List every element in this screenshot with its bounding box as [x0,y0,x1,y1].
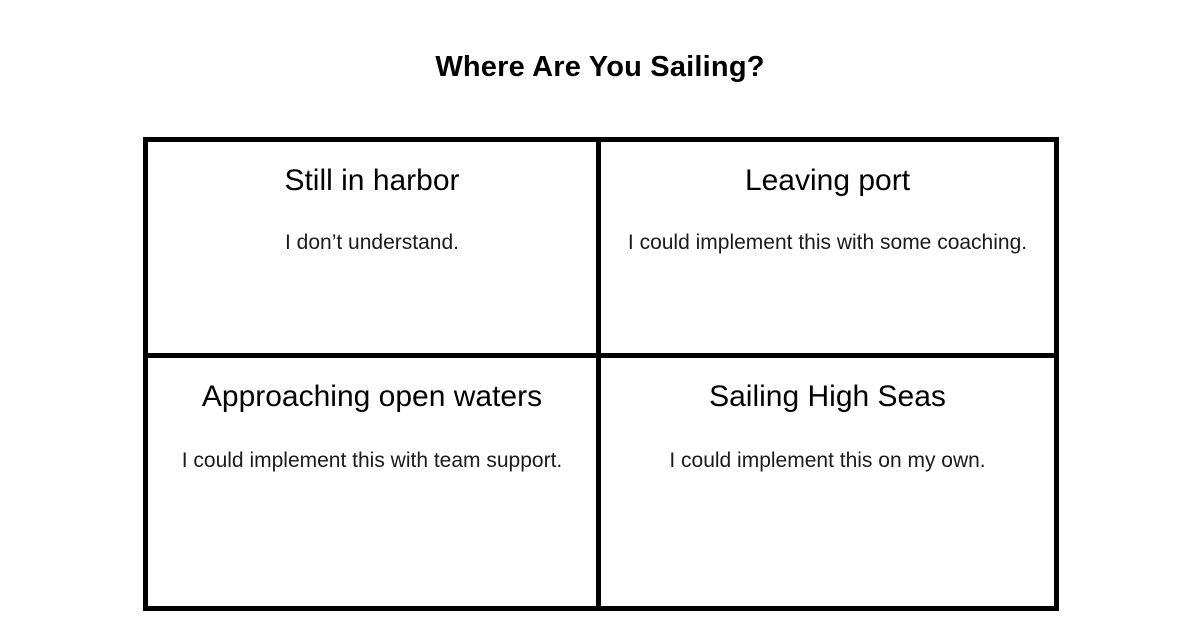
quadrant-sailing-high-seas[interactable]: Sailing High Seas I could implement this… [601,358,1054,606]
quadrant-leaving-port[interactable]: Leaving port I could implement this with… [601,142,1054,353]
quadrant-heading: Sailing High Seas [619,378,1036,416]
sailing-quadrant-matrix: Still in harbor I don’t understand. Leav… [143,137,1059,611]
quadrant-body: I could implement this with team support… [166,446,578,475]
matrix-row-bottom: Approaching open waters I could implemen… [148,358,1054,606]
quadrant-body: I could implement this on my own. [619,446,1036,475]
quadrant-body-text: I don’t understand. [285,228,459,257]
quadrant-body: I don’t understand. [166,228,578,257]
page-title: Where Are You Sailing? [0,47,1200,87]
quadrant-body: I could implement this with some coachin… [619,228,1036,257]
quadrant-heading: Leaving port [619,162,1036,200]
quadrant-heading: Still in harbor [166,162,578,200]
slide-canvas: Where Are You Sailing? Still in harbor I… [0,0,1200,630]
quadrant-approaching-open-waters[interactable]: Approaching open waters I could implemen… [148,358,601,606]
quadrant-body-text: I could implement this with some coachin… [628,228,1027,257]
quadrant-body-text: I could implement this on my own. [669,446,985,475]
quadrant-still-in-harbor[interactable]: Still in harbor I don’t understand. [148,142,601,353]
matrix-row-top: Still in harbor I don’t understand. Leav… [148,142,1054,358]
quadrant-body-text: I could implement this with team support… [182,446,563,475]
quadrant-heading: Approaching open waters [166,378,578,416]
